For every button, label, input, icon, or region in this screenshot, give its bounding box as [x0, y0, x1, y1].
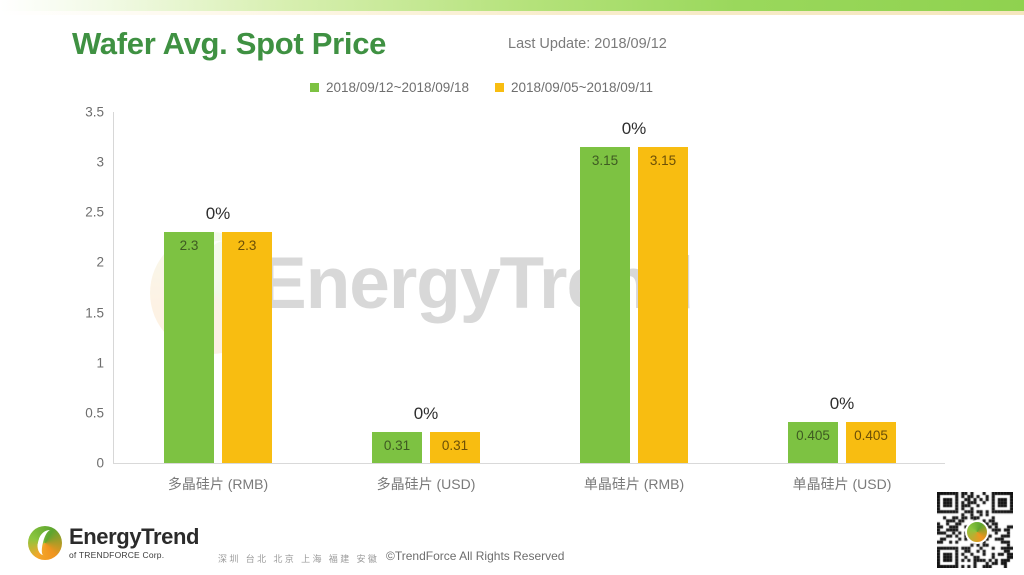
slide: Wafer Avg. Spot Price Last Update: 2018/…	[0, 0, 1024, 575]
y-axis-tick: 2.5	[85, 205, 104, 220]
x-axis-label: 多晶硅片 (USD)	[322, 474, 530, 494]
bar[interactable]: 2.3	[164, 232, 214, 463]
bar-value-label: 0.31	[372, 438, 422, 453]
bar-value-label: 0.31	[430, 438, 480, 453]
qr-code[interactable]	[937, 492, 1013, 568]
y-axis-tick: 2	[96, 255, 104, 270]
x-axis-label: 单晶硅片 (USD)	[738, 474, 946, 494]
bar-group: 0%0.310.31	[322, 112, 530, 463]
x-axis-label: 多晶硅片 (RMB)	[114, 474, 322, 494]
y-axis-tick-labels: 00.511.522.533.5	[62, 108, 104, 463]
x-axis-category-labels: 多晶硅片 (RMB)多晶硅片 (USD)单晶硅片 (RMB)单晶硅片 (USD)	[114, 474, 946, 504]
legend-label-current: 2018/09/12~2018/09/18	[326, 80, 469, 95]
x-axis-label: 单晶硅片 (RMB)	[530, 474, 738, 494]
last-update-label: Last Update: 2018/09/12	[508, 36, 667, 52]
y-axis-tick: 0.5	[85, 405, 104, 420]
bar-group: 0%0.4050.405	[738, 112, 946, 463]
logo-name: EnergyTrend	[69, 526, 199, 548]
qr-center-logo-icon	[965, 520, 989, 544]
legend-swatch-amber	[495, 83, 504, 92]
bar-group: 0%2.32.3	[114, 112, 322, 463]
y-axis-tick: 1	[96, 355, 104, 370]
bar-chart: 00.511.522.533.5 0%2.32.30%0.310.310%3.1…	[62, 108, 952, 468]
bar-value-label: 0.405	[788, 428, 838, 443]
bar[interactable]: 2.3	[222, 232, 272, 463]
legend-swatch-green	[310, 83, 319, 92]
bar-value-label: 2.3	[164, 238, 214, 253]
y-axis-tick: 0	[96, 456, 104, 471]
bar[interactable]: 0.31	[430, 432, 480, 463]
bar[interactable]: 0.405	[846, 422, 896, 463]
y-axis-tick: 3	[96, 155, 104, 170]
bar-value-label: 2.3	[222, 238, 272, 253]
energytrend-logo: EnergyTrend of TRENDFORCE Corp.	[28, 526, 199, 560]
x-axis-baseline	[113, 463, 945, 464]
legend-item-previous[interactable]: 2018/09/05~2018/09/11	[495, 80, 653, 95]
logo-subtitle: of TRENDFORCE Corp.	[69, 551, 199, 560]
bar[interactable]: 0.31	[372, 432, 422, 463]
top-accent-bar	[0, 0, 1024, 11]
page-title: Wafer Avg. Spot Price	[72, 26, 386, 62]
bar-value-label: 3.15	[638, 153, 688, 168]
energytrend-logo-text: EnergyTrend of TRENDFORCE Corp.	[69, 526, 199, 560]
chart-legend: 2018/09/12~2018/09/18 2018/09/05~2018/09…	[310, 80, 653, 95]
footer: EnergyTrend of TRENDFORCE Corp. 深圳 台北 北京…	[0, 520, 1024, 575]
legend-item-current[interactable]: 2018/09/12~2018/09/18	[310, 80, 469, 95]
bar[interactable]: 0.405	[788, 422, 838, 463]
copyright-notice: ©TrendForce All Rights Reserved	[386, 549, 564, 563]
plot-area: 0%2.32.30%0.310.310%3.153.150%0.4050.405	[114, 112, 946, 463]
top-accent-bar-secondary	[0, 11, 1024, 15]
office-cities: 深圳 台北 北京 上海 福建 安徽	[218, 552, 379, 565]
y-axis-tick: 1.5	[85, 305, 104, 320]
bar-value-label: 3.15	[580, 153, 630, 168]
energytrend-logo-icon	[28, 526, 62, 560]
bar-value-label: 0.405	[846, 428, 896, 443]
bar[interactable]: 3.15	[580, 147, 630, 463]
bar[interactable]: 3.15	[638, 147, 688, 463]
y-axis-tick: 3.5	[85, 105, 104, 120]
legend-label-previous: 2018/09/05~2018/09/11	[511, 80, 653, 95]
bar-group: 0%3.153.15	[530, 112, 738, 463]
